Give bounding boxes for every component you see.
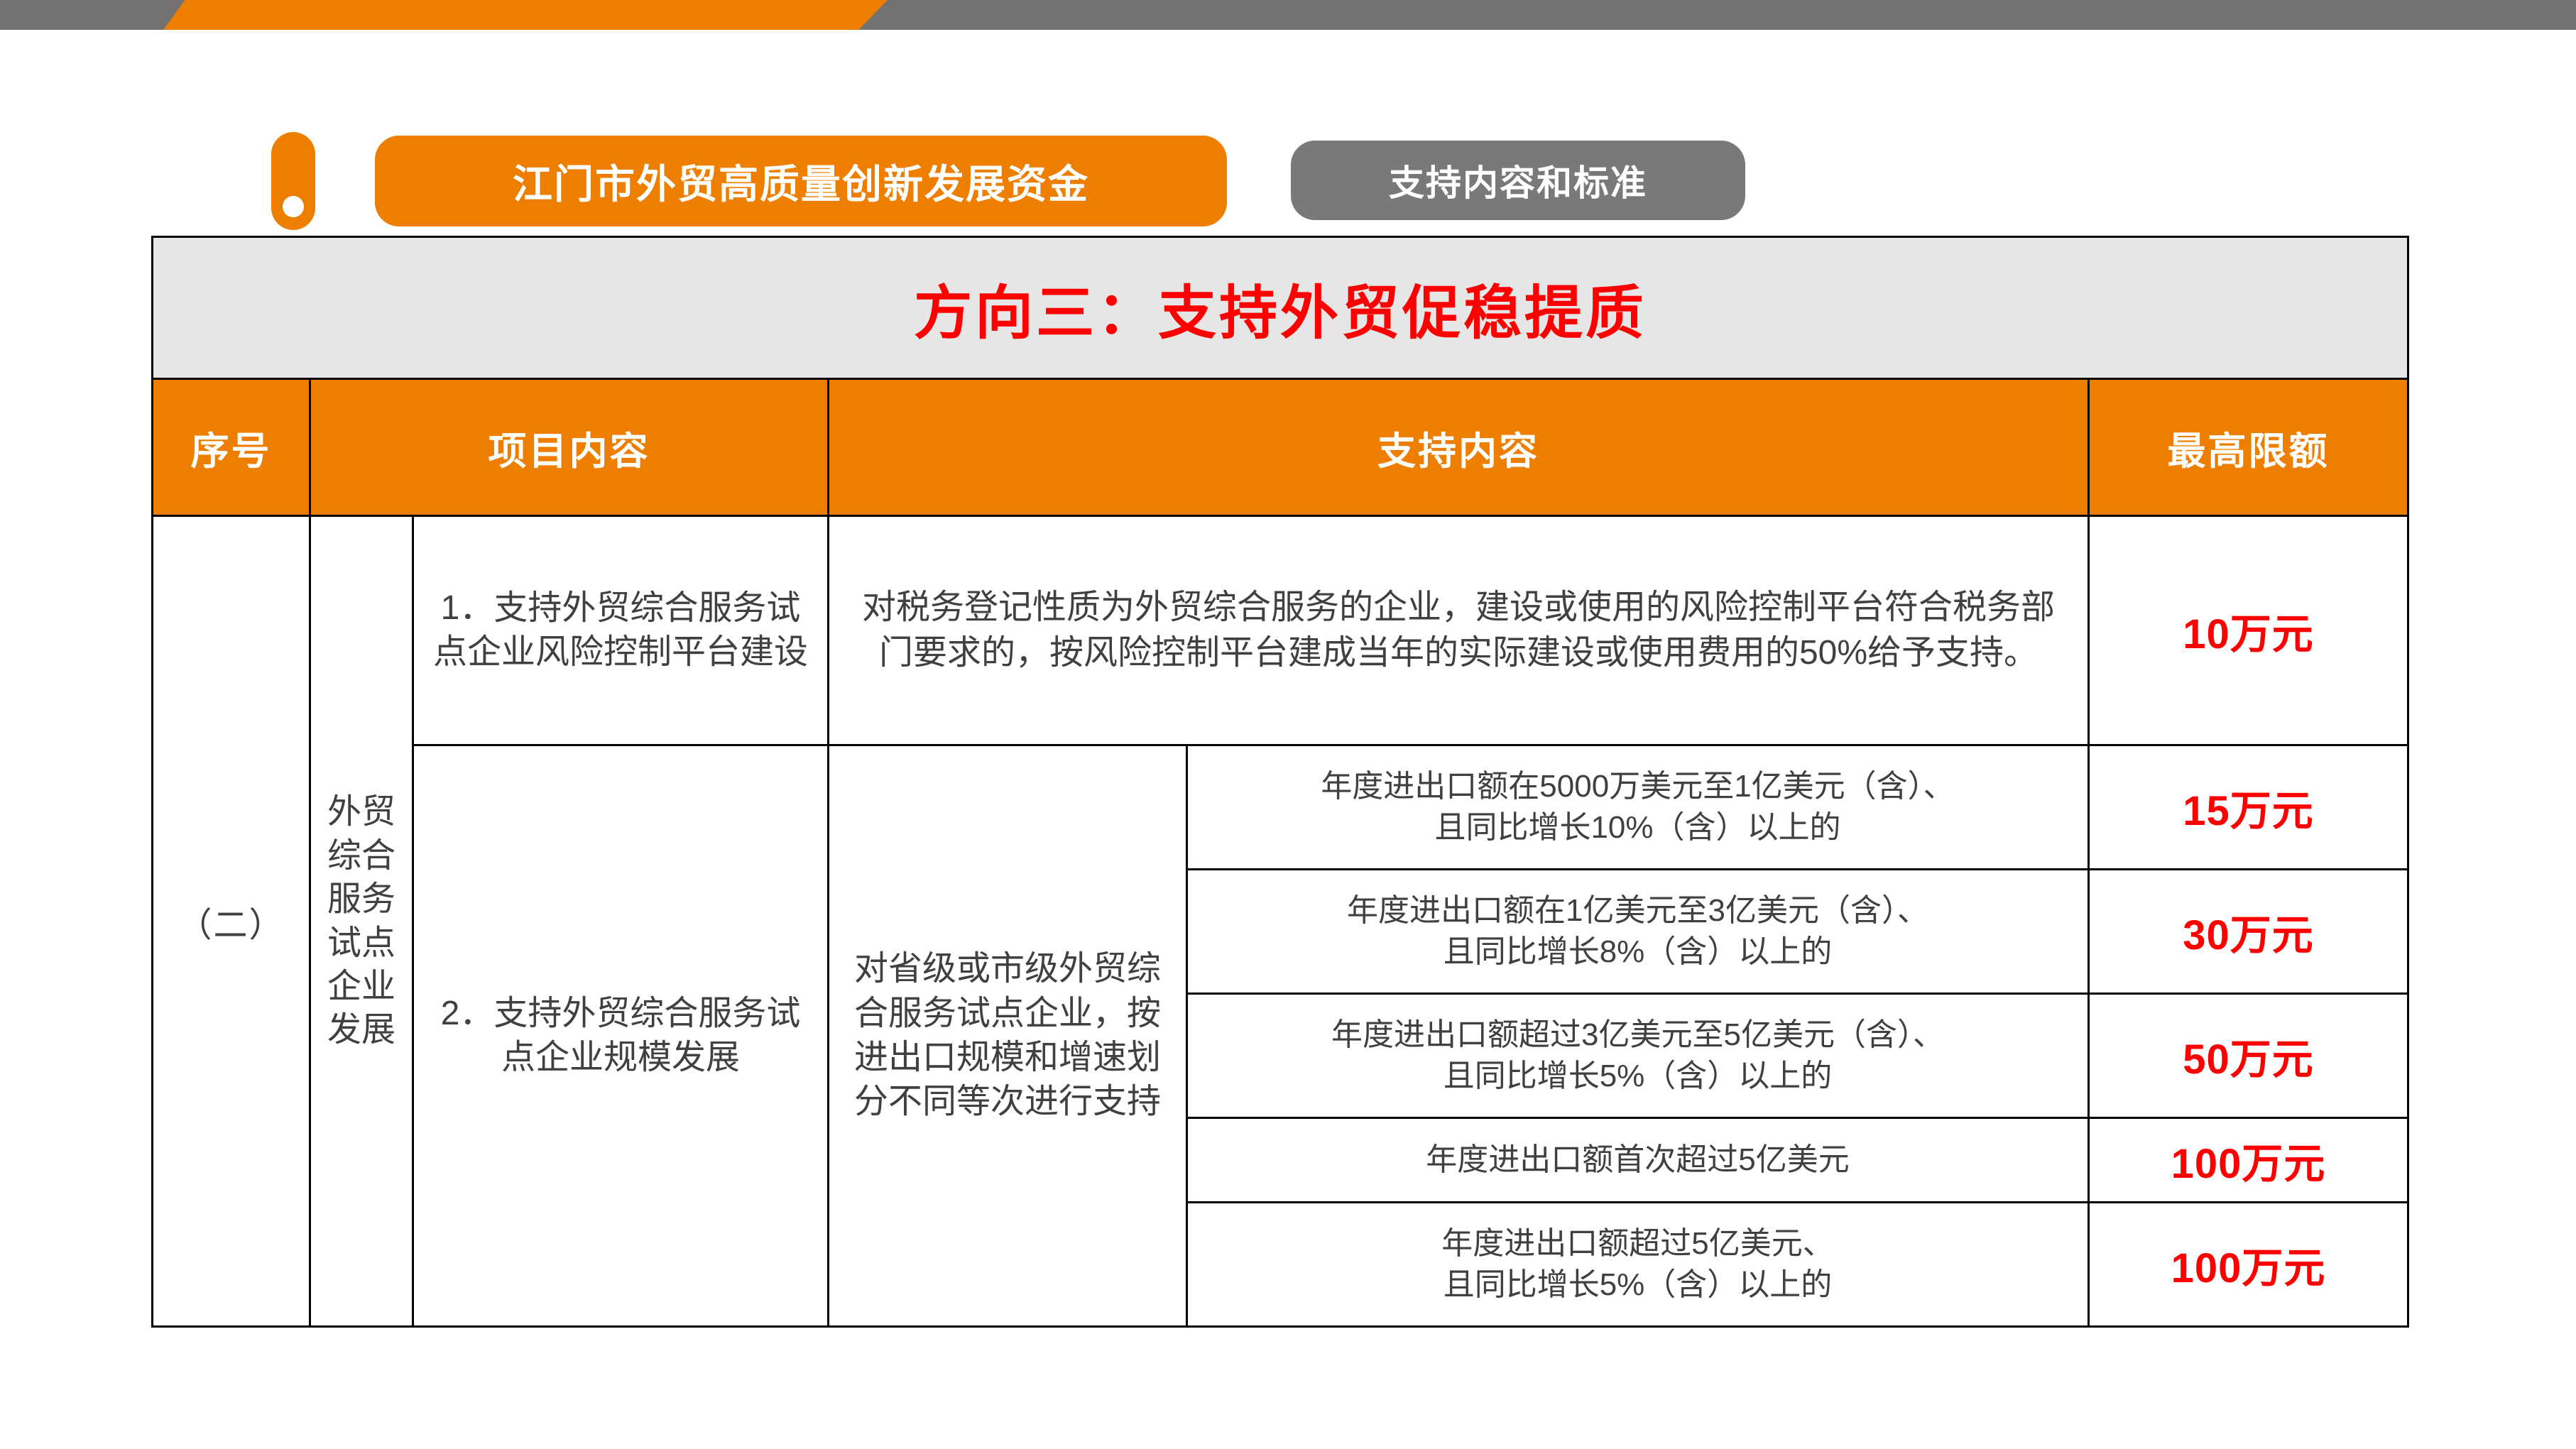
header-bar: 江门市外贸高质量创新发展资金 支持内容和标准: [0, 62, 2576, 183]
top-banner-wedge: [163, 0, 888, 30]
item-mode-cell-2: 对省级或市级外贸综合服务试点企业，按进出口规模和增速划分不同等次进行支持: [829, 745, 1187, 1327]
tier-amount-cell: 15万元: [2089, 745, 2408, 870]
tier-criteria-line2: 且同比增长5%（含）以上的: [1202, 1056, 2073, 1097]
tier-criteria-cell: 年度进出口额超过3亿美元至5亿美元（含）、 且同比增长5%（含）以上的: [1187, 994, 2089, 1118]
tier-criteria-line1: 年度进出口额超过3亿美元至5亿美元（含）、: [1202, 1015, 2073, 1056]
group-category-cell: 外贸综合服务试点企业发展: [310, 516, 413, 1327]
fund-title-pill: 江门市外贸高质量创新发展资金: [375, 136, 1227, 226]
tier-criteria-cell: 年度进出口额在5000万美元至1亿美元（含）、 且同比增长10%（含）以上的: [1187, 745, 2089, 870]
tier-criteria-cell: 年度进出口额首次超过5亿美元: [1187, 1118, 2089, 1203]
top-banner: [0, 0, 2576, 30]
tier-criteria-line1: 年度进出口额在1亿美元至3亿美元（含）、: [1202, 890, 2073, 931]
item-amount-cell-1: 10万元: [2089, 516, 2408, 745]
tier-criteria-cell: 年度进出口额在1亿美元至3亿美元（含）、 且同比增长8%（含）以上的: [1187, 870, 2089, 994]
column-header-index: 序号: [153, 379, 310, 516]
tier-criteria-line1: 年度进出口额首次超过5亿美元: [1202, 1139, 2073, 1181]
column-header-support: 支持内容: [829, 379, 2089, 516]
table-row: 2．支持外贸综合服务试点企业规模发展 对省级或市级外贸综合服务试点企业，按进出口…: [153, 745, 2408, 870]
tier-amount-cell: 100万元: [2089, 1203, 2408, 1327]
item-description-cell-1: 对税务登记性质为外贸综合服务的企业，建设或使用的风险控制平台符合税务部门要求的，…: [829, 516, 2089, 745]
column-header-project: 项目内容: [310, 379, 829, 516]
tier-criteria-line2: 且同比增长10%（含）以上的: [1202, 807, 2073, 848]
item-name-cell-1: 1．支持外贸综合服务试点企业风险控制平台建设: [413, 516, 829, 745]
tier-criteria-line2: 且同比增长8%（含）以上的: [1202, 931, 2073, 973]
column-header-limit: 最高限额: [2089, 379, 2408, 516]
section-label-pill: 支持内容和标准: [1291, 141, 1745, 220]
tier-amount-cell: 100万元: [2089, 1118, 2408, 1203]
item-name-cell-2: 2．支持外贸综合服务试点企业规模发展: [413, 745, 829, 1327]
group-index-cell: （二）: [153, 516, 310, 1327]
tier-criteria-line2: 且同比增长5%（含）以上的: [1202, 1264, 2073, 1306]
tier-criteria-line1: 年度进出口额在5000万美元至1亿美元（含）、: [1202, 766, 2073, 807]
direction-title: 方向三：支持外贸促稳提质: [153, 237, 2408, 379]
table-title-row: 方向三：支持外贸促稳提质: [153, 237, 2408, 379]
tier-criteria-line1: 年度进出口额超过5亿美元、: [1202, 1223, 2073, 1264]
exclamation-mark-dot: [283, 196, 304, 217]
tier-criteria-cell: 年度进出口额超过5亿美元、 且同比增长5%（含）以上的: [1187, 1203, 2089, 1327]
exclamation-mark-icon: [271, 132, 315, 230]
tier-amount-cell: 50万元: [2089, 994, 2408, 1118]
table-row: （二） 外贸综合服务试点企业发展 1．支持外贸综合服务试点企业风险控制平台建设 …: [153, 516, 2408, 745]
support-standards-table: 方向三：支持外贸促稳提质 序号 项目内容 支持内容 最高限额 （二） 外贸综合服…: [151, 236, 2409, 1328]
table-header-row: 序号 项目内容 支持内容 最高限额: [153, 379, 2408, 516]
tier-amount-cell: 30万元: [2089, 870, 2408, 994]
support-table-container: 方向三：支持外贸促稳提质 序号 项目内容 支持内容 最高限额 （二） 外贸综合服…: [151, 236, 2407, 1328]
